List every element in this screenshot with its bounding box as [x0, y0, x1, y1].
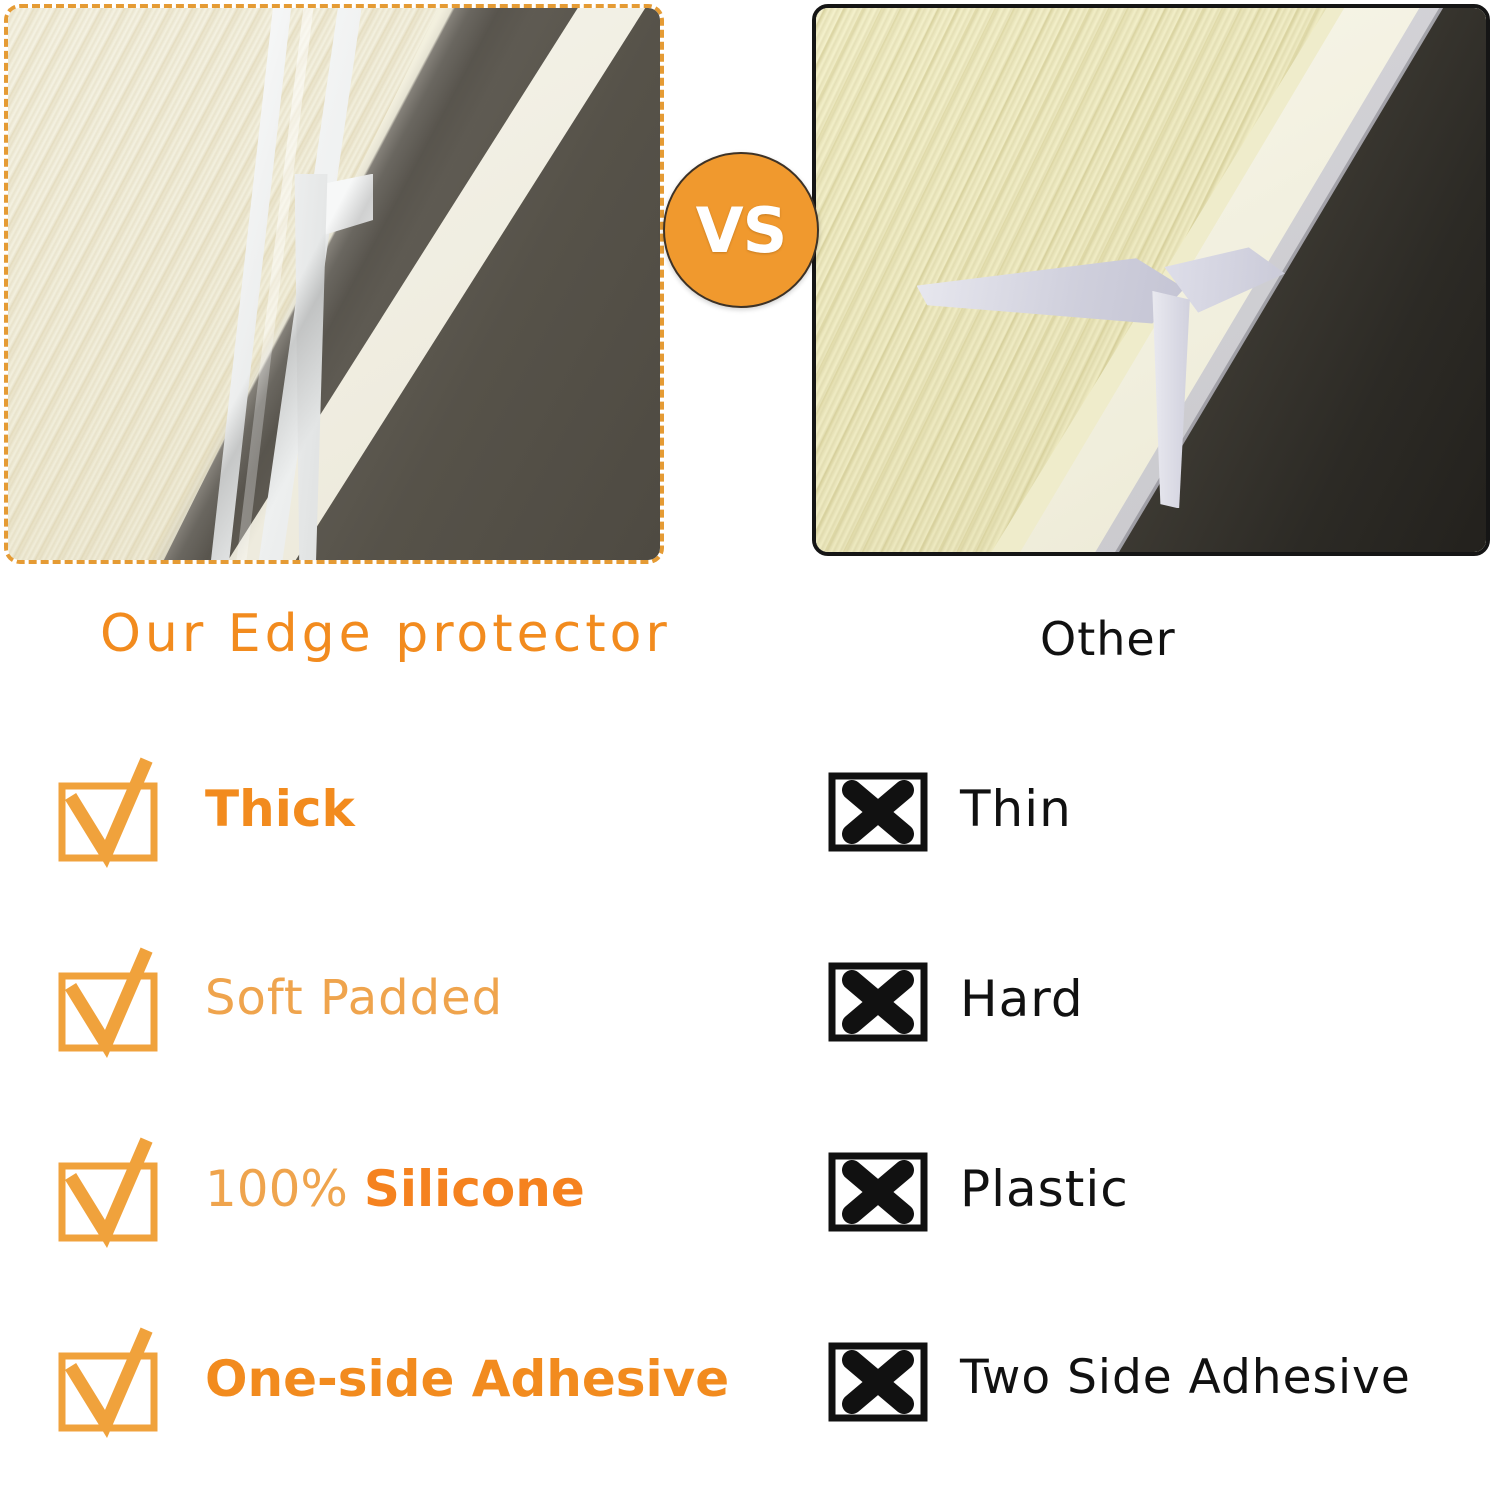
other-product-photo [816, 8, 1486, 552]
photo-comparison-row: VS [0, 0, 1500, 575]
check-box-icon [58, 1328, 168, 1438]
vs-badge: VS [663, 152, 819, 308]
x-box-icon [828, 762, 928, 862]
feature-row: Hard [810, 930, 1500, 1120]
other-product-header: Other [1040, 612, 1176, 666]
feature-label: Thick [205, 784, 355, 834]
feature-label: Two Side Adhesive [960, 1354, 1411, 1401]
check-box-icon [58, 948, 168, 1058]
feature-row: 100% Silicone [0, 1120, 800, 1310]
feature-row: Thin [810, 740, 1500, 930]
feature-label: Thin [960, 784, 1072, 834]
our-feature-list: Thick Soft Padded 100% Silicone One-side [0, 740, 800, 1500]
other-product-photo-panel [812, 4, 1490, 556]
other-feature-list: Thin Hard Plastic Two Side Adhesive [810, 740, 1500, 1500]
x-box-icon [828, 952, 928, 1052]
feature-label-prefix: 100% [205, 1160, 364, 1218]
feature-label: Hard [960, 974, 1084, 1024]
feature-label-strong: Silicone [364, 1160, 585, 1218]
our-product-photo-panel [4, 4, 664, 564]
feature-row: One-side Adhesive [0, 1310, 800, 1500]
feature-row: Two Side Adhesive [810, 1310, 1500, 1500]
vs-badge-label: VS [696, 194, 787, 267]
feature-row: Plastic [810, 1120, 1500, 1310]
x-box-icon [828, 1332, 928, 1432]
feature-label: 100% Silicone [205, 1164, 585, 1214]
check-box-icon [58, 1138, 168, 1248]
edge-shadow [8, 8, 660, 560]
feature-label: Plastic [960, 1164, 1129, 1214]
our-product-header: Our Edge protector [100, 604, 671, 664]
feature-row: Soft Padded [0, 930, 800, 1120]
check-box-icon [58, 758, 168, 868]
feature-row: Thick [0, 740, 800, 930]
feature-label: Soft Padded [205, 974, 503, 1022]
x-box-icon [828, 1142, 928, 1242]
feature-label: One-side Adhesive [205, 1354, 729, 1404]
our-product-photo [8, 8, 660, 560]
